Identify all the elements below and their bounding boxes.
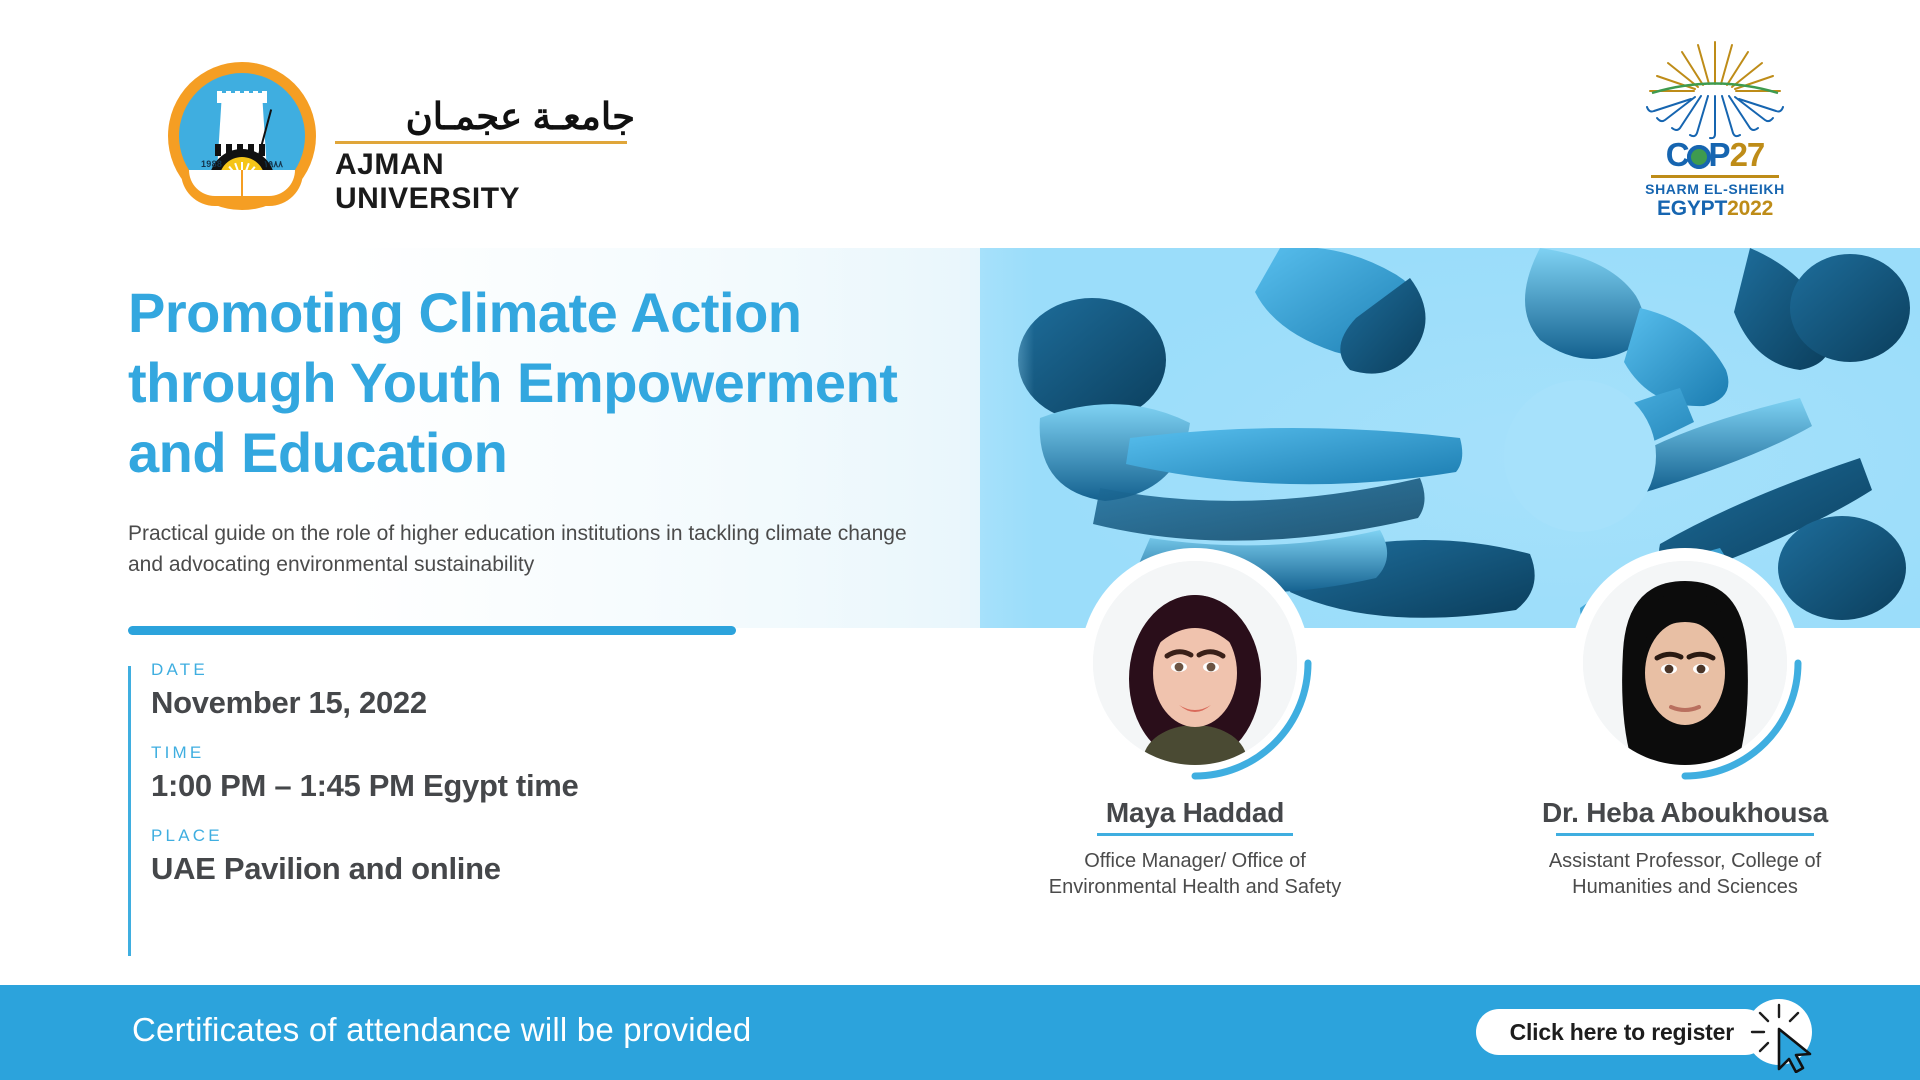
event-details: DATE November 15, 2022 TIME 1:00 PM – 1:…: [128, 660, 748, 909]
speaker-name-underline: [1097, 833, 1293, 836]
cop27-divider: [1651, 175, 1779, 178]
footer-bar: Certificates of attendance will be provi…: [0, 985, 1920, 1080]
detail-place: PLACE UAE Pavilion and online: [128, 826, 748, 887]
speaker-name-underline: [1556, 833, 1814, 836]
seal-year-latin: 1988: [201, 159, 222, 169]
register-button[interactable]: Click here to register: [1476, 1009, 1768, 1055]
poster-canvas: 1988 ١٩٨٨ جامعـة عجمـان AJMAN UNIVERSITY: [0, 0, 1920, 1080]
speaker-role: Assistant Professor, College of Humaniti…: [1520, 848, 1850, 900]
speaker-card: Maya Haddad Office Manager/ Office of En…: [1030, 548, 1360, 968]
cop27-country: EGYPT: [1657, 197, 1727, 220]
speaker-portrait: [1093, 561, 1297, 765]
cop27-logo: CP27 SHARM EL-SHEIKH EGYPT2022: [1630, 34, 1800, 209]
cop27-city: SHARM EL-SHEIKH: [1630, 181, 1800, 197]
cop27-p: P: [1709, 136, 1730, 173]
section-divider: [128, 626, 736, 635]
event-subtitle: Practical guide on the role of higher ed…: [128, 518, 928, 580]
university-name-english: AJMAN UNIVERSITY: [335, 148, 635, 216]
wordmark-divider: [335, 141, 627, 144]
speaker-name: Maya Haddad: [1106, 797, 1284, 829]
title-line-3: and Education: [128, 418, 948, 488]
detail-value: 1:00 PM – 1:45 PM Egypt time: [151, 768, 748, 804]
click-cursor-icon[interactable]: [1738, 991, 1820, 1073]
speaker-role: Office Manager/ Office of Environmental …: [1030, 848, 1360, 900]
seal-year-arabic: ١٩٨٨: [264, 159, 283, 170]
speaker-card: Dr. Heba Aboukhousa Assistant Professor,…: [1520, 548, 1850, 968]
cop27-wordmark: CP27 SHARM EL-SHEIKH EGYPT2022: [1630, 138, 1800, 220]
speaker-portrait: [1583, 561, 1787, 765]
detail-value: UAE Pavilion and online: [151, 851, 748, 887]
university-name-arabic: جامعـة عجمـان: [335, 94, 635, 140]
book-icon: [181, 172, 303, 206]
title-line-2: through Youth Empowerment: [128, 348, 948, 418]
cop27-number: 27: [1730, 136, 1765, 173]
cop27-sunburst-icon: [1630, 34, 1800, 144]
globe-icon: [1687, 145, 1711, 169]
cop27-year: 2022: [1727, 197, 1773, 220]
detail-value: November 15, 2022: [151, 685, 748, 721]
university-wordmark: جامعـة عجمـان AJMAN UNIVERSITY: [335, 94, 635, 216]
speaker-role-line: Office Manager/ Office of: [1030, 848, 1360, 874]
avatar: [1570, 548, 1800, 778]
certificate-note: Certificates of attendance will be provi…: [132, 1011, 751, 1049]
detail-time: TIME 1:00 PM – 1:45 PM Egypt time: [128, 743, 748, 804]
detail-label: DATE: [151, 660, 748, 680]
cop27-c: C: [1666, 136, 1689, 173]
speaker-role-line: Environmental Health and Safety: [1030, 874, 1360, 900]
title-line-1: Promoting Climate Action: [128, 278, 948, 348]
speaker-name: Dr. Heba Aboukhousa: [1542, 797, 1828, 829]
header: 1988 ١٩٨٨ جامعـة عجمـان AJMAN UNIVERSITY: [0, 0, 1920, 248]
speaker-role-line: Assistant Professor, College of: [1520, 848, 1850, 874]
speaker-role-line: Humanities and Sciences: [1520, 874, 1850, 900]
avatar: [1080, 548, 1310, 778]
details-rail: [128, 666, 131, 956]
detail-date: DATE November 15, 2022: [128, 660, 748, 721]
detail-label: PLACE: [151, 826, 748, 846]
event-title: Promoting Climate Action through Youth E…: [128, 278, 948, 488]
ajman-university-logo: 1988 ١٩٨٨: [168, 62, 316, 210]
detail-label: TIME: [151, 743, 748, 763]
speakers-list: Maya Haddad Office Manager/ Office of En…: [960, 548, 1920, 968]
